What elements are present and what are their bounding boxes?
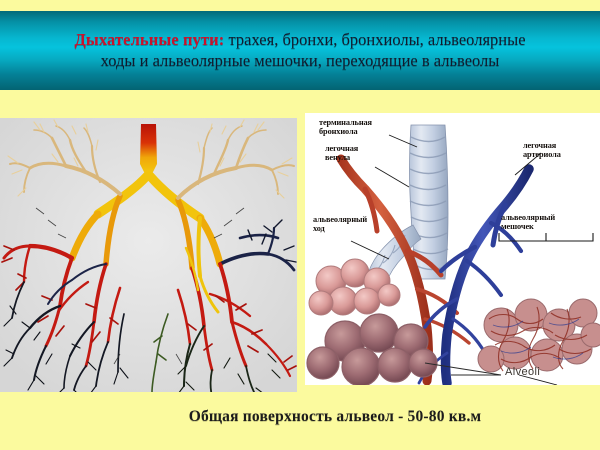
slide-canvas: Дыхательные пути: трахея, бронхи, бронхи…	[0, 0, 600, 450]
label-alveolar-duct-line1: альвеолярный	[313, 215, 367, 224]
label-pulmonary-venule: легочная венула	[325, 144, 358, 163]
label-alveolar-duct: альвеолярный ход	[313, 215, 367, 234]
label-alveolar-sac-line1: альвеолярный	[501, 213, 555, 222]
slide-title-banner: Дыхательные пути: трахея, бронхи, бронхи…	[0, 11, 600, 90]
title-line-1: Дыхательные пути: трахея, бронхи, бронхи…	[0, 30, 600, 50]
label-pulmonary-arteriole-line2: артериола	[523, 150, 561, 159]
label-alveolar-sac: альвеолярный мешочек	[501, 213, 555, 232]
label-alveoli: Alveoli	[505, 366, 540, 378]
label-terminal-bronchiole-line2: бронхиола	[319, 127, 372, 136]
label-terminal-bronchiole-line1: терминальная	[319, 118, 372, 127]
label-pulmonary-arteriole: легочная артериола	[523, 141, 561, 160]
title-line-2: ходы и альвеолярные мешочки, переходящие…	[0, 51, 600, 71]
title-emphasis: Дыхательные пути:	[74, 30, 224, 49]
title-rest: трахея, бронхи, бронхиолы, альвеолярные	[224, 30, 525, 49]
label-terminal-bronchiole: терминальная бронхиола	[319, 118, 372, 137]
label-alveolar-duct-line2: ход	[313, 224, 367, 233]
label-alveolar-sac-line2: мешочек	[501, 222, 555, 231]
bottom-caption: Общая поверхность альвеол - 50-80 кв.м	[0, 398, 600, 436]
bronchial-tree-photo	[0, 118, 297, 392]
label-pulmonary-arteriole-line1: легочная	[523, 141, 561, 150]
label-pulmonary-venule-line2: венула	[325, 153, 358, 162]
bronchial-tree-illustration	[0, 118, 297, 392]
label-pulmonary-venule-line1: легочная	[325, 144, 358, 153]
acinus-diagram: терминальная бронхиола легочная венула л…	[305, 113, 600, 385]
bottom-caption-text: Общая поверхность альвеол - 50-80 кв.м	[119, 408, 482, 426]
